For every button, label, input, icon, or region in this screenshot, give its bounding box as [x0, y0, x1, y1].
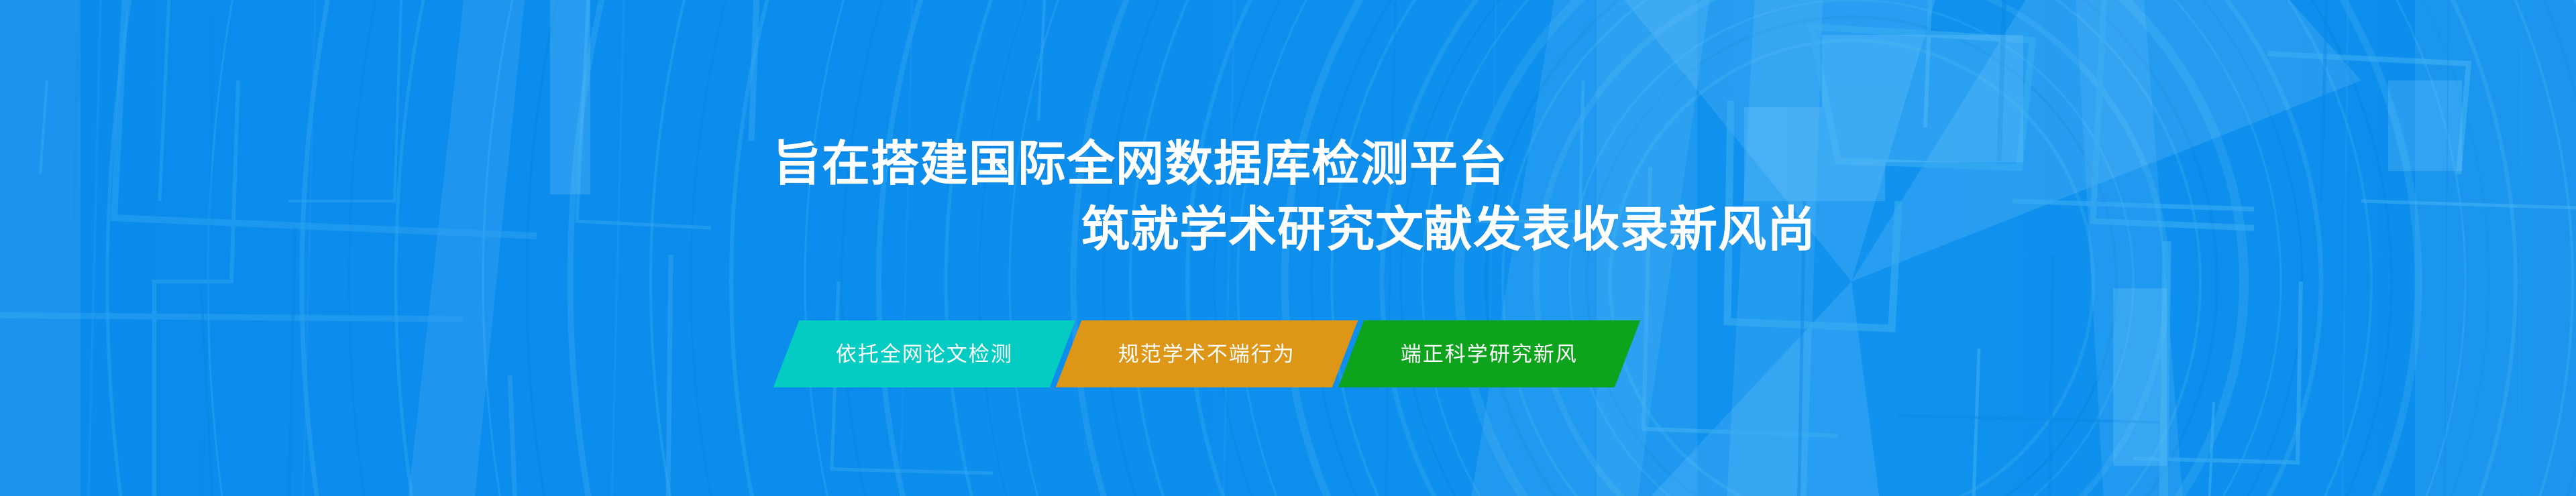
feature-tag-label: 端正科学研究新风 [1401, 344, 1578, 365]
feature-tag-paper-detection[interactable]: 依托全网论文检测 [773, 320, 1075, 387]
feature-tag-label: 依托全网论文检测 [836, 344, 1013, 365]
tech-background-art [0, 0, 2576, 496]
promo-banner: 旨在搭建国际全网数据库检测平台 筑就学术研究文献发表收录新风尚 依托全网论文检测… [0, 0, 2576, 496]
feature-tag-research-ethics[interactable]: 端正科学研究新风 [1338, 320, 1640, 387]
feature-tag-strip: 依托全网论文检测 规范学术不端行为 端正科学研究新风 [773, 320, 1640, 387]
feature-tag-label: 规范学术不端行为 [1118, 344, 1295, 365]
feature-tag-academic-misconduct[interactable]: 规范学术不端行为 [1056, 320, 1358, 387]
